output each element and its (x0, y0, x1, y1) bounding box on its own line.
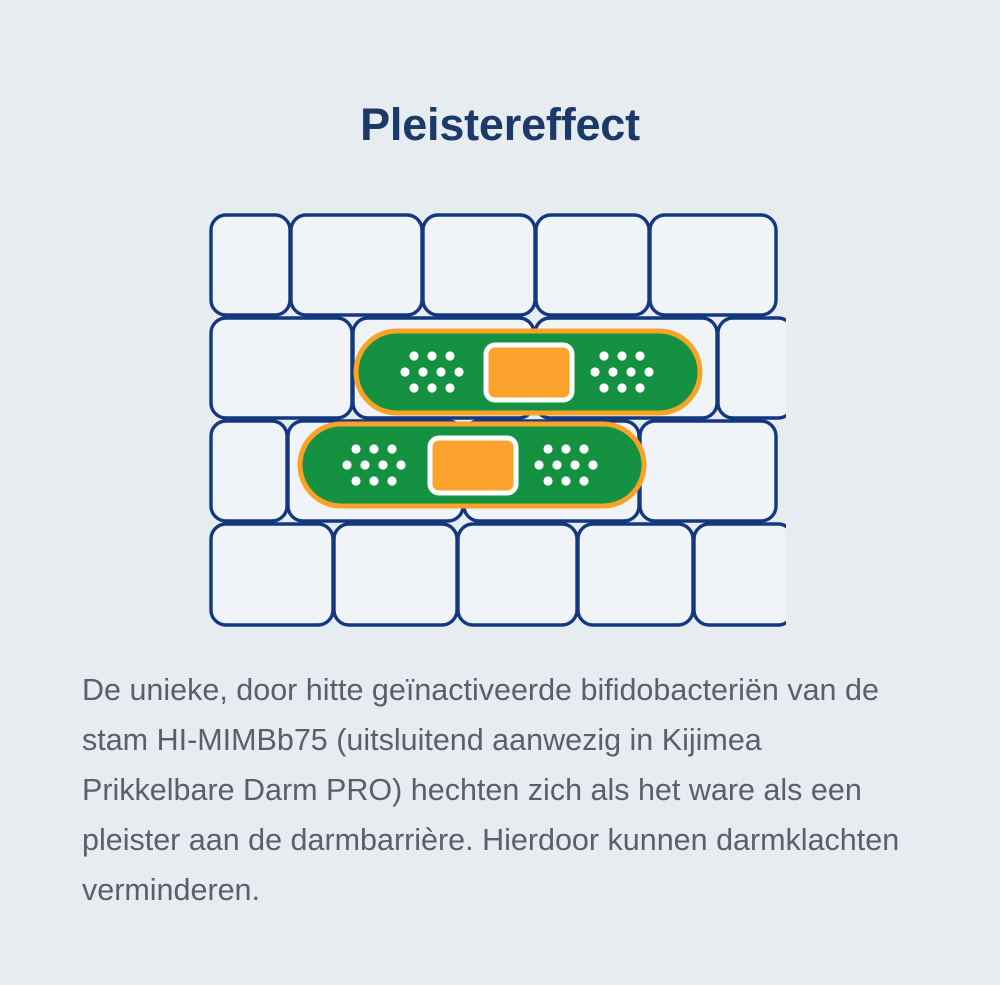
brick (334, 524, 457, 625)
brick (578, 524, 693, 625)
page-title: Pleistereffect (0, 100, 1000, 150)
brick (650, 215, 776, 315)
plaster-effect-card: Pleistereffect (0, 0, 1000, 985)
body-paragraph: De unieke, door hitte geïnactiveerde bif… (82, 665, 912, 915)
brick (211, 421, 287, 521)
brick (211, 318, 352, 418)
brick-wall (211, 215, 793, 625)
brick (211, 524, 333, 625)
brick (211, 215, 290, 315)
brick (694, 524, 793, 625)
brick (291, 215, 422, 315)
bandage-lower (300, 424, 644, 506)
bandage-pad (430, 438, 516, 493)
bandage-upper (356, 331, 700, 413)
brick (458, 524, 577, 625)
brick (536, 215, 649, 315)
bandage-pad (486, 345, 572, 400)
brick (423, 215, 535, 315)
plaster-effect-illustration (190, 200, 800, 645)
illustration-svg (190, 200, 800, 645)
body-copy: De unieke, door hitte geïnactiveerde bif… (82, 665, 912, 915)
brick (640, 421, 776, 521)
brick (718, 318, 793, 418)
